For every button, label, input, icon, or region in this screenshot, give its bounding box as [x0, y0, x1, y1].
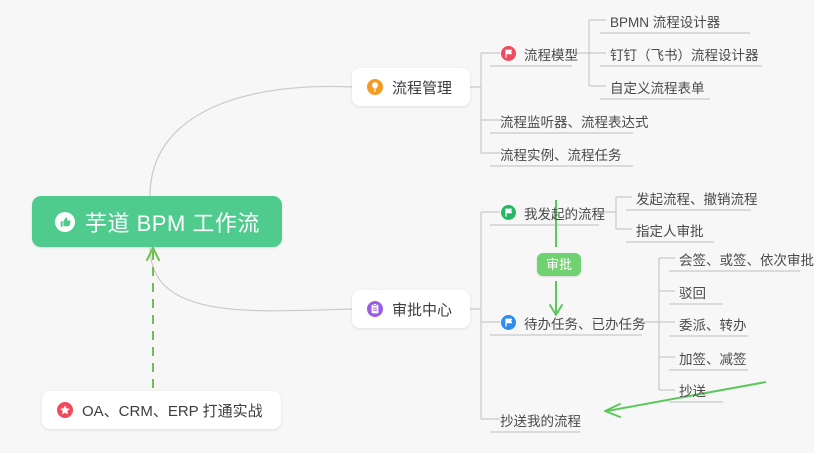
node-countersign[interactable]: 会签、或签、依次审批: [671, 245, 814, 272]
clipboard-icon: [366, 300, 384, 318]
branch-process-management[interactable]: 流程管理: [352, 68, 470, 106]
node-label: 抄送我的流程: [500, 410, 581, 430]
node-label: 抄送: [679, 380, 706, 400]
node-custom-form[interactable]: 自定义流程表单: [602, 73, 713, 100]
branch-approval-center[interactable]: 审批中心: [352, 290, 470, 328]
node-todo-done-tasks[interactable]: 待办任务、已办任务: [492, 309, 654, 336]
link-root-to-process-management: [150, 86, 352, 196]
node-reject[interactable]: 驳回: [671, 278, 714, 305]
note-label: OA、CRM、ERP 打通实战: [82, 400, 263, 421]
node-add-remove-sign[interactable]: 加签、减签: [671, 344, 755, 371]
node-delegate-transfer[interactable]: 委派、转办: [671, 310, 755, 337]
node-label: 会签、或签、依次审批: [679, 249, 814, 269]
node-label: 自定义流程表单: [610, 77, 705, 97]
node-label: BPMN 流程设计器: [610, 11, 720, 31]
node-label: 待办任务、已办任务: [524, 313, 646, 333]
node-label: 委派、转办: [679, 314, 747, 334]
mindmap-canvas: 芋道 BPM 工作流 流程管理 流程模型 BPMN 流程设计器 钉钉（飞书）流程…: [0, 0, 814, 453]
node-my-initiated[interactable]: 我发起的流程: [492, 199, 613, 226]
thumbs-up-icon: [54, 211, 76, 233]
lightbulb-icon: [366, 78, 384, 96]
node-bpmn-designer[interactable]: BPMN 流程设计器: [602, 7, 728, 34]
star-icon: [56, 401, 74, 419]
node-process-listener[interactable]: 流程监听器、流程表达式: [492, 107, 657, 134]
approval-tag-label: 审批: [546, 257, 572, 272]
node-start-cancel-process[interactable]: 发起流程、撤销流程: [628, 184, 766, 211]
flag-icon: [500, 204, 517, 221]
node-label: 流程实例、流程任务: [500, 144, 622, 164]
node-label: 驳回: [679, 282, 706, 302]
node-label: 流程模型: [524, 44, 578, 64]
node-label: 钉钉（飞书）流程设计器: [610, 44, 759, 64]
flag-icon: [500, 314, 517, 331]
root-node[interactable]: 芋道 BPM 工作流: [32, 196, 282, 247]
flag-icon: [500, 45, 517, 62]
node-process-instance[interactable]: 流程实例、流程任务: [492, 140, 630, 167]
link-root-to-approval-center: [150, 247, 352, 311]
node-dingtalk-designer[interactable]: 钉钉（飞书）流程设计器: [602, 40, 767, 67]
node-cc[interactable]: 抄送: [671, 376, 714, 403]
approval-tag[interactable]: 审批: [537, 253, 581, 276]
node-cc-to-me[interactable]: 抄送我的流程: [492, 406, 589, 433]
node-label: 加签、减签: [679, 348, 747, 368]
integration-note-arrow: [147, 248, 159, 388]
node-label: 我发起的流程: [524, 203, 605, 223]
node-assignee-approval[interactable]: 指定人审批: [628, 216, 712, 243]
node-label: 流程监听器、流程表达式: [500, 111, 649, 131]
node-label: 发起流程、撤销流程: [636, 188, 758, 208]
branch-label: 流程管理: [392, 77, 452, 98]
node-process-model[interactable]: 流程模型: [492, 40, 586, 67]
node-label: 指定人审批: [636, 220, 704, 240]
branch-label: 审批中心: [392, 299, 452, 320]
root-label: 芋道 BPM 工作流: [85, 206, 260, 238]
note-integration-practice[interactable]: OA、CRM、ERP 打通实战: [42, 391, 281, 429]
